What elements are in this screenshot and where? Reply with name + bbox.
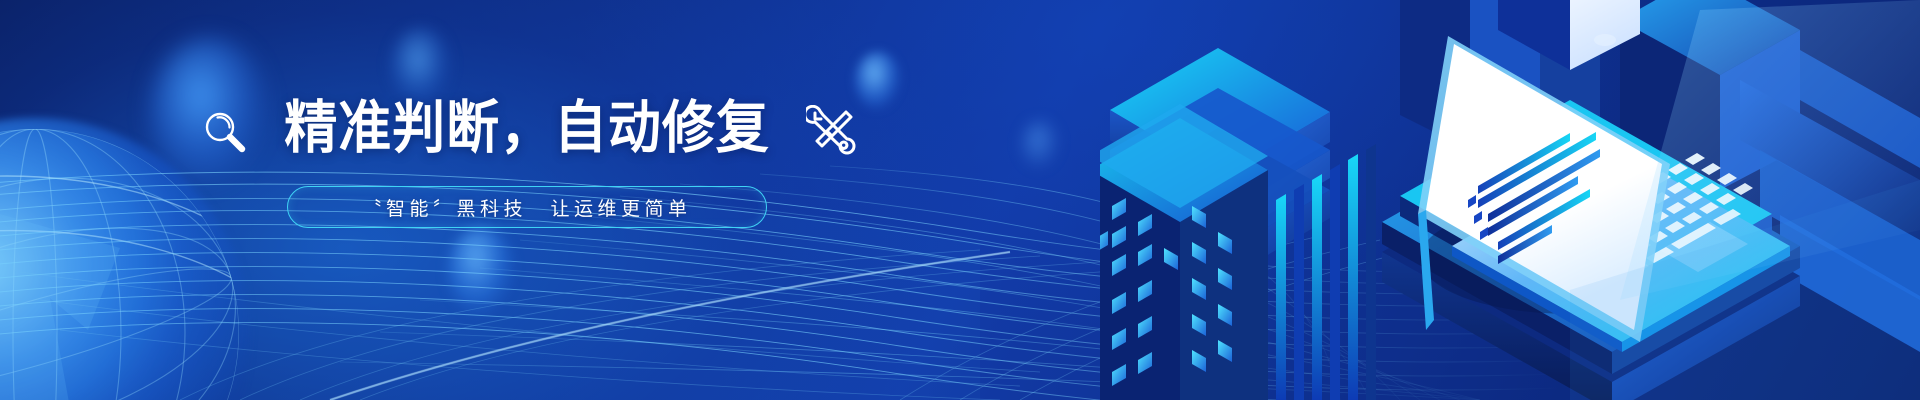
platform-slabs xyxy=(1382,100,1800,400)
background-slabs xyxy=(1400,0,1800,190)
laptop-keyboard xyxy=(1532,153,1753,291)
promo-banner: 精准判断，自动修复 〝智能〞黑科技 让运维更简单 xyxy=(0,0,1920,400)
search-icon xyxy=(202,109,248,155)
laptop-screen-code xyxy=(1468,132,1600,264)
box-stack xyxy=(1110,48,1330,282)
bokeh-orb xyxy=(448,228,514,314)
laptop xyxy=(1418,36,1790,352)
right-stacked-slabs xyxy=(1740,50,1920,352)
globe-glow xyxy=(0,118,250,400)
wrench-screwdriver-icon xyxy=(806,105,858,157)
subtitle-text: 〝智能〞黑科技 让运维更简单 xyxy=(362,194,691,221)
headline-block: 精准判断，自动修复 xyxy=(0,100,1060,157)
headline-row: 精准判断，自动修复 xyxy=(0,100,1060,157)
globe-wireframe-lines xyxy=(0,118,250,400)
office-tower xyxy=(1100,104,1268,400)
page-title: 精准判断，自动修复 xyxy=(284,100,769,157)
isometric-illustration xyxy=(1100,0,1920,400)
floating-document-card xyxy=(1498,0,1640,70)
wireframe-globe-icon xyxy=(0,118,250,400)
bokeh-orb xyxy=(390,28,452,106)
sheen-overlay xyxy=(1570,0,1920,400)
vertical-light-bars xyxy=(1276,144,1376,400)
subtitle-pill: 〝智能〞黑科技 让运维更简单 xyxy=(287,186,767,228)
tower-windows xyxy=(1100,198,1232,386)
